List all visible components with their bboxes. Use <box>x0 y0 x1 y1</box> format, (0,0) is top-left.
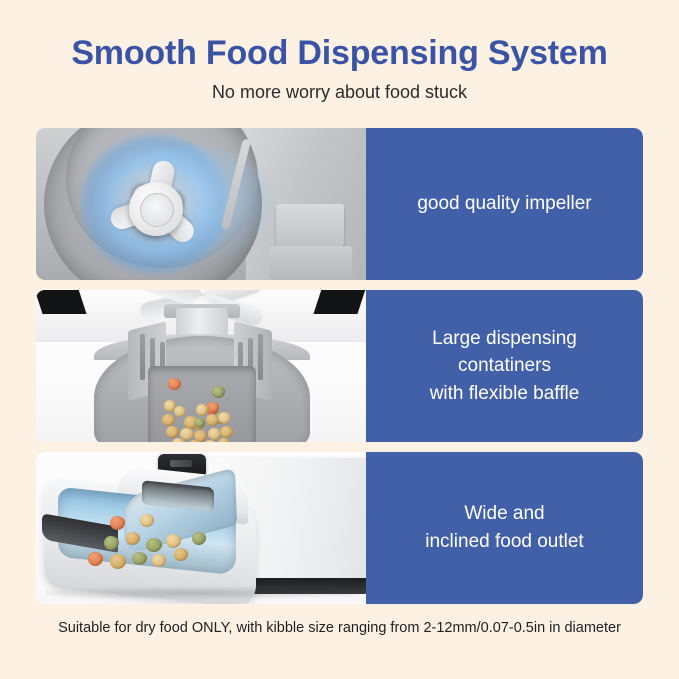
feature-label-line: contatiners <box>430 352 580 380</box>
feeder-display-glyph <box>170 460 192 467</box>
dispenser-dark-corner-left <box>36 290 87 314</box>
pile-kibble <box>172 438 185 442</box>
feature-label-line: good quality impeller <box>417 190 591 218</box>
baffle-rib-6 <box>258 334 263 380</box>
baffle-rib-1 <box>140 334 145 380</box>
page-subtitle: No more worry about food stuck <box>0 82 679 104</box>
pile-kibble <box>174 406 186 417</box>
footer-note: Suitable for dry food ONLY, with kibble … <box>0 620 679 636</box>
food-outlet-photo <box>36 452 366 604</box>
feature-label-line: Large dispensing <box>430 325 580 353</box>
bowl-kibble <box>166 534 181 548</box>
pile-kibble <box>220 426 233 438</box>
product-feature-page: Smooth Food Dispensing System No more wo… <box>0 0 679 679</box>
dispensing-container-photo <box>36 290 366 442</box>
feature-card-containers: Large dispensing contatiners with flexib… <box>36 290 643 442</box>
bowl-kibble <box>110 516 125 530</box>
feature-label-outlet: Wide and inclined food outlet <box>366 452 643 604</box>
impeller-blades <box>100 152 210 262</box>
bowl-kibble-group <box>82 514 232 574</box>
impeller-scene <box>36 128 366 280</box>
feature-label-line: with flexible baffle <box>430 380 580 408</box>
impeller-photo <box>36 128 366 280</box>
dispenser-scene <box>36 290 366 442</box>
pile-kibble <box>166 426 179 438</box>
bowl-kibble <box>140 514 154 527</box>
pile-kibble <box>218 412 231 424</box>
pile-kibble <box>218 438 230 442</box>
pile-kibble <box>204 440 217 442</box>
kibble-pile <box>160 396 244 442</box>
feature-card-list: good quality impeller <box>36 128 643 614</box>
feature-label-line: inclined food outlet <box>425 528 583 556</box>
feature-label-impeller: good quality impeller <box>366 128 643 280</box>
feature-card-impeller: good quality impeller <box>36 128 643 280</box>
bowl-kibble <box>88 552 103 566</box>
bowl-kibble <box>110 554 126 569</box>
pile-kibble <box>206 414 219 426</box>
impeller-hub-ring <box>140 193 174 227</box>
bowl-kibble <box>174 548 188 561</box>
bowl-kibble <box>152 554 166 567</box>
bowl-kibble <box>132 552 147 565</box>
feeder-floor-shadow <box>46 586 366 600</box>
page-header: Smooth Food Dispensing System No more wo… <box>0 0 679 104</box>
feature-label-line: Wide and <box>425 500 583 528</box>
bowl-kibble <box>104 536 119 550</box>
page-title: Smooth Food Dispensing System <box>0 34 679 73</box>
pile-kibble <box>208 402 219 413</box>
outlet-scene <box>36 452 366 604</box>
feature-label-containers: Large dispensing contatiners with flexib… <box>366 290 643 442</box>
pile-kibble <box>162 414 175 426</box>
bowl-kibble <box>146 538 162 552</box>
feature-card-outlet: Wide and inclined food outlet <box>36 452 643 604</box>
hopper-tab-lower <box>270 246 352 280</box>
pile-kibble <box>194 418 205 428</box>
hopper-tab-upper <box>276 204 344 246</box>
bowl-kibble <box>192 532 206 545</box>
pile-kibble <box>196 404 208 416</box>
dispenser-dark-corner-right <box>313 290 366 314</box>
bowl-kibble <box>126 532 140 545</box>
